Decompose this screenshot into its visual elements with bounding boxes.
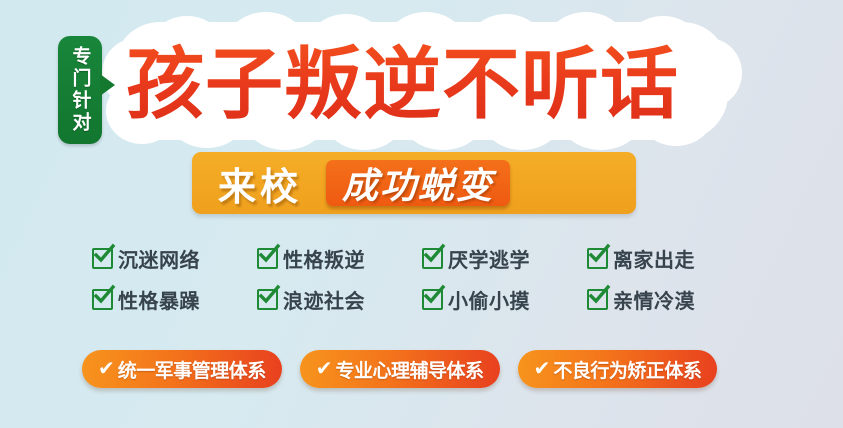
checklist-item: 亲情冷漠 <box>587 285 752 314</box>
checkbox-checked-icon <box>422 289 443 310</box>
feature-pill[interactable]: ✔ 不良行为矫正体系 <box>518 350 718 388</box>
page-title: 孩子叛逆不听话 <box>126 34 746 134</box>
checkbox-checked-icon <box>257 248 278 269</box>
checklist-item: 离家出走 <box>587 244 752 273</box>
checklist-item: 性格叛逆 <box>257 244 422 273</box>
checklist-label: 浪迹社会 <box>283 285 365 314</box>
subtitle-highlight-pill: 成功蜕变 <box>326 160 510 206</box>
checklist-label: 沉迷网络 <box>118 244 200 273</box>
checklist-label: 小偷小摸 <box>448 285 530 314</box>
checklist-label: 性格暴躁 <box>118 285 200 314</box>
checklist-item: 性格暴躁 <box>92 285 257 314</box>
feature-pill-label: 不良行为矫正体系 <box>553 356 701 383</box>
feature-pill-row: ✔ 统一军事管理体系 ✔ 专业心理辅导体系 ✔ 不良行为矫正体系 <box>82 350 762 390</box>
checkbox-checked-icon <box>92 248 113 269</box>
target-audience-badge: 专门针对 <box>58 36 102 144</box>
subtitle-left-label: 来校 <box>218 156 302 211</box>
subtitle-highlight-label: 成功蜕变 <box>342 157 494 209</box>
feature-pill[interactable]: ✔ 统一军事管理体系 <box>82 350 282 388</box>
checkbox-checked-icon <box>587 248 608 269</box>
check-icon: ✔ <box>98 359 115 379</box>
checklist-label: 亲情冷漠 <box>613 285 695 314</box>
checklist-label: 厌学逃学 <box>448 244 530 273</box>
feature-pill-label: 专业心理辅导体系 <box>336 356 484 383</box>
checkbox-checked-icon <box>587 289 608 310</box>
checkbox-checked-icon <box>422 248 443 269</box>
checklist-item: 厌学逃学 <box>422 244 587 273</box>
check-icon: ✔ <box>316 359 333 379</box>
badge-arrow-icon <box>100 74 115 96</box>
checklist-label: 性格叛逆 <box>283 244 365 273</box>
problem-checklist: 沉迷网络 性格叛逆 厌学逃学 离家出走 性格暴躁 <box>92 244 752 314</box>
checklist-item: 浪迹社会 <box>257 285 422 314</box>
feature-pill[interactable]: ✔ 专业心理辅导体系 <box>300 350 500 388</box>
checklist-item: 沉迷网络 <box>92 244 257 273</box>
check-icon: ✔ <box>534 359 551 379</box>
checklist-item: 小偷小摸 <box>422 285 587 314</box>
promo-banner: 专门针对 孩子叛逆不听话 来校 成功蜕变 沉迷网络 性格叛逆 厌学逃学 <box>0 0 843 428</box>
feature-pill-label: 统一军事管理体系 <box>118 356 266 383</box>
checkbox-checked-icon <box>92 289 113 310</box>
checkbox-checked-icon <box>257 289 278 310</box>
checklist-label: 离家出走 <box>613 244 695 273</box>
badge-label: 专门针对 <box>71 46 90 134</box>
subtitle-band: 来校 成功蜕变 <box>192 152 636 214</box>
